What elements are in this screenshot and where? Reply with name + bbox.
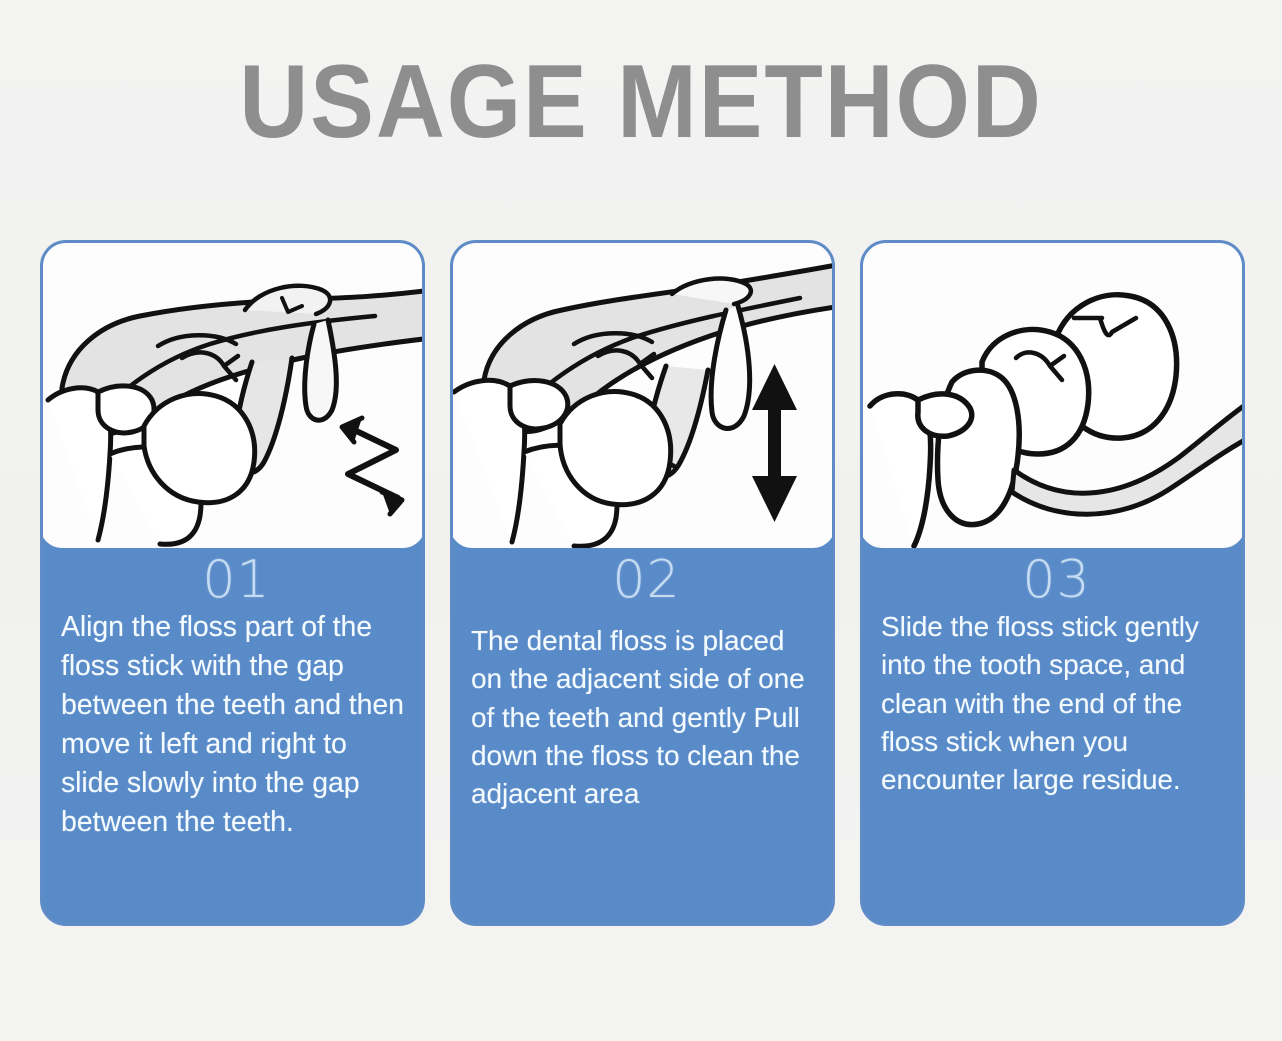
- step-03-number: 03: [881, 554, 1232, 606]
- step-03-text: Slide the floss stick gently into the to…: [881, 608, 1232, 800]
- step-01-number: 01: [61, 554, 412, 606]
- zigzag-double-arrow-icon: [342, 418, 402, 514]
- step-card-03: 03 Slide the floss stick gently into the…: [860, 240, 1245, 926]
- step-02-body: 02 The dental floss is placed on the adj…: [453, 548, 835, 814]
- step-02-illustration: [450, 240, 835, 548]
- step-01-text: Align the floss part of the floss stick …: [61, 608, 412, 842]
- step-03-body: 03 Slide the floss stick gently into the…: [863, 548, 1245, 800]
- usage-method-infographic: USAGE METHOD: [0, 0, 1282, 1041]
- step-card-02: 02 The dental floss is placed on the adj…: [450, 240, 835, 926]
- steps-card-row: 01 Align the floss part of the floss sti…: [40, 240, 1245, 926]
- step-03-illustration: [860, 240, 1245, 548]
- step-01-body: 01 Align the floss part of the floss sti…: [43, 548, 425, 842]
- step-02-text: The dental floss is placed on the adjace…: [471, 622, 822, 814]
- step-02-number: 02: [471, 554, 822, 606]
- step-card-01: 01 Align the floss part of the floss sti…: [40, 240, 425, 926]
- step-01-illustration: [40, 240, 425, 548]
- vertical-double-arrow-icon: [752, 364, 797, 522]
- page-title: USAGE METHOD: [51, 48, 1230, 157]
